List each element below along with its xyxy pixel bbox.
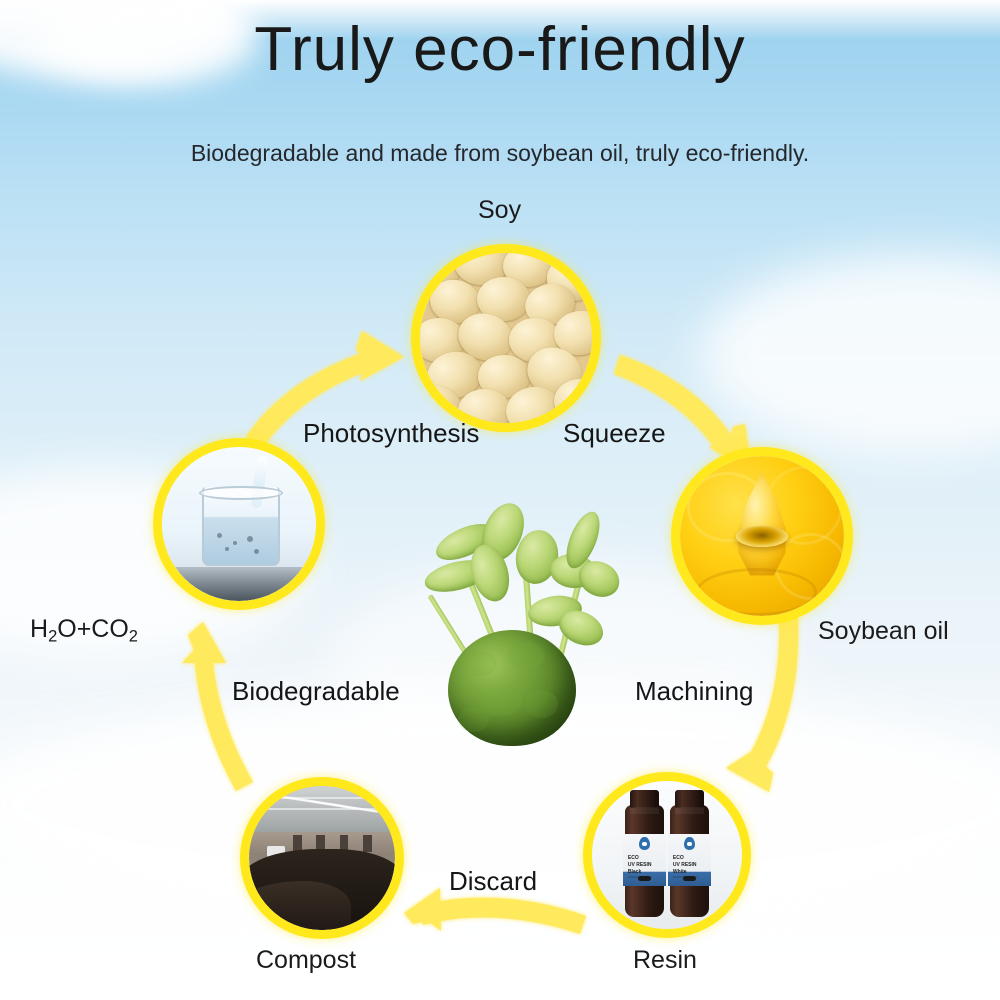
compost-pile-photo <box>249 786 395 930</box>
node-water-label: H2O+CO2 <box>30 615 138 647</box>
water-label-mid: O+CO <box>57 615 129 643</box>
arrow-label-photosynthesis: Photosynthesis <box>303 418 479 449</box>
node-resin-label: Resin <box>633 946 697 975</box>
oil-droplet-photo <box>680 456 844 616</box>
compost-circle[interactable] <box>240 777 404 939</box>
soybean-oil-circle[interactable] <box>671 447 853 625</box>
node-compost-label: Compost <box>256 946 356 975</box>
resin-circle[interactable]: ECO UV RESIN Black ECO UV RESIN White <box>583 772 751 938</box>
arrow-label-squeeze: Squeeze <box>563 418 666 449</box>
resin-bottle-white: ECO UV RESIN White <box>670 805 709 917</box>
moss-ball <box>448 630 576 746</box>
water-label-sub1: 2 <box>48 628 57 646</box>
water-circle[interactable] <box>153 438 325 610</box>
node-soybean-oil-label: Soybean oil <box>818 617 949 646</box>
water-label-pre: H <box>30 615 48 643</box>
arrow-label-machining: Machining <box>635 676 754 707</box>
node-soy-label: Soy <box>478 196 521 225</box>
center-moss-plant <box>410 500 620 750</box>
water-glass-photo <box>162 447 316 601</box>
infographic-canvas: Truly eco-friendly Biodegradable and mad… <box>0 0 1000 1000</box>
resin-bottle-black: ECO UV RESIN Black <box>625 805 664 917</box>
arrow-label-biodegradable: Biodegradable <box>232 676 400 707</box>
water-label-sub2: 2 <box>129 628 138 646</box>
uv-resin-bottles-photo: ECO UV RESIN Black ECO UV RESIN White <box>592 781 742 929</box>
soy-circle[interactable] <box>411 244 601 432</box>
arrow-label-discard: Discard <box>449 866 537 897</box>
soybeans-photo <box>420 253 592 423</box>
